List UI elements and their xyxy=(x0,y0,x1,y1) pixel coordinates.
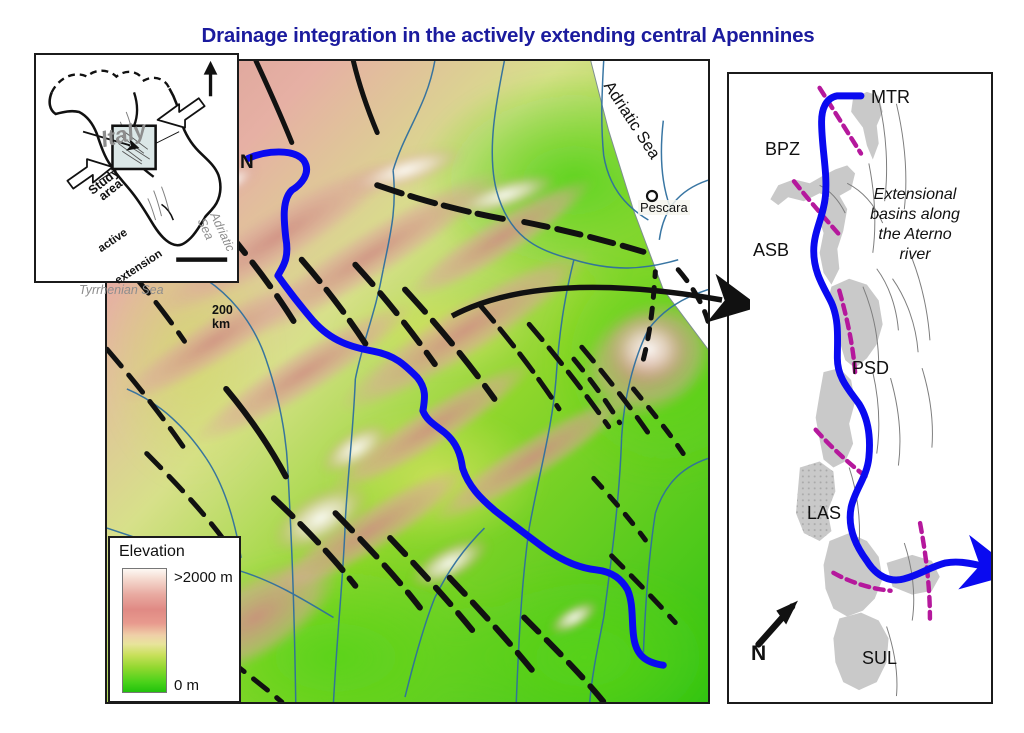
extensional-basins-note: Extensional basins along the Aterno rive… xyxy=(845,185,985,265)
elevation-legend: Elevation >2000 m 0 m xyxy=(108,536,241,703)
italy-outline-graphic xyxy=(36,55,237,281)
inset-connector-arrow xyxy=(450,260,750,340)
basin-label-mtr: MTR xyxy=(871,87,910,108)
pescara-city-marker xyxy=(645,189,659,203)
north-arrow-right-panel xyxy=(759,601,798,645)
note-line-1: Extensional xyxy=(874,186,957,203)
aterno-basins-graphic xyxy=(729,74,991,702)
note-line-4: river xyxy=(899,246,930,263)
aterno-basins-panel[interactable] xyxy=(727,72,993,704)
note-line-2: basins along xyxy=(870,206,960,223)
north-label-right-panel: N xyxy=(751,642,766,666)
italy-locator-inset[interactable]: Italy Study area active extension Adriat… xyxy=(34,53,239,283)
legend-title: Elevation xyxy=(119,543,185,561)
legend-min-label: 0 m xyxy=(174,677,199,694)
elevation-color-ramp xyxy=(122,568,167,693)
figure-title: Drainage integration in the actively ext… xyxy=(0,24,1024,48)
note-line-3: the Aterno xyxy=(878,226,951,243)
basin-label-bpz: BPZ xyxy=(765,139,800,160)
basin-label-psd: PSD xyxy=(852,358,889,379)
legend-max-label: >2000 m xyxy=(174,569,233,586)
basin-label-las: LAS xyxy=(807,503,841,524)
basin-label-asb: ASB xyxy=(753,240,789,261)
figure-root: Drainage integration in the actively ext… xyxy=(0,0,1024,733)
basin-label-sul: SUL xyxy=(862,648,897,669)
